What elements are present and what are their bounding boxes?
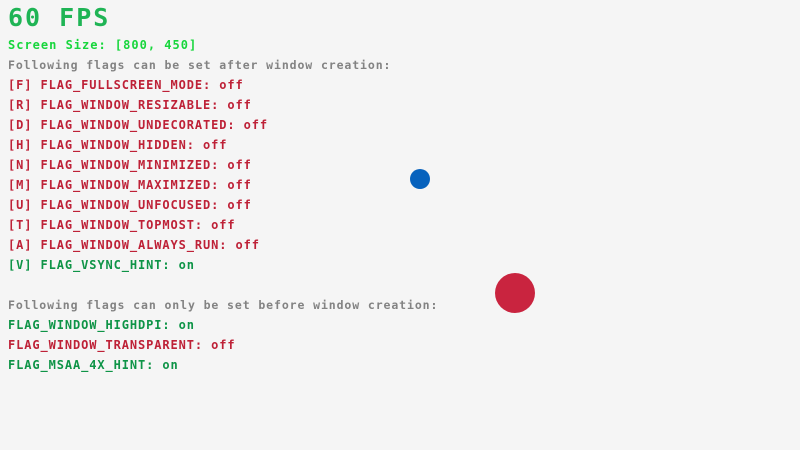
flag-state-value: off (211, 338, 235, 352)
red-ball-shape (495, 273, 535, 313)
flag-row[interactable]: FLAG_WINDOW_TRANSPARENT: off (8, 338, 236, 352)
flag-state-value: off (227, 158, 251, 172)
flag-row[interactable]: FLAG_WINDOW_HIGHDPI: on (8, 318, 195, 332)
flag-name: FLAG_MSAA_4X_HINT: (8, 358, 162, 372)
flag-shortcut-key: [N] (8, 158, 41, 172)
flag-shortcut-key: [R] (8, 98, 41, 112)
flag-name: FLAG_WINDOW_ALWAYS_RUN: (41, 238, 236, 252)
flag-state-value: off (227, 98, 251, 112)
flag-shortcut-key: [H] (8, 138, 41, 152)
flag-name: FLAG_WINDOW_TRANSPARENT: (8, 338, 211, 352)
flag-name: FLAG_WINDOW_HIGHDPI: (8, 318, 179, 332)
flag-state-value: on (162, 358, 178, 372)
flag-shortcut-key: [M] (8, 178, 41, 192)
flag-row[interactable]: [U] FLAG_WINDOW_UNFOCUSED: off (8, 198, 252, 212)
flag-row[interactable]: [D] FLAG_WINDOW_UNDECORATED: off (8, 118, 268, 132)
flag-name: FLAG_WINDOW_UNFOCUSED: (41, 198, 228, 212)
flag-shortcut-key: [F] (8, 78, 41, 92)
flag-state-value: on (179, 258, 195, 272)
screen-size-readout: Screen Size: [800, 450] (8, 38, 197, 52)
flag-row[interactable]: [T] FLAG_WINDOW_TOPMOST: off (8, 218, 236, 232)
flag-shortcut-key: [T] (8, 218, 41, 232)
flag-state-value: off (244, 118, 268, 132)
flag-name: FLAG_WINDOW_MAXIMIZED: (41, 178, 228, 192)
flag-row[interactable]: [A] FLAG_WINDOW_ALWAYS_RUN: off (8, 238, 260, 252)
flag-shortcut-key: [A] (8, 238, 41, 252)
flag-row[interactable]: [F] FLAG_FULLSCREEN_MODE: off (8, 78, 244, 92)
flag-row[interactable]: [V] FLAG_VSYNC_HINT: on (8, 258, 195, 272)
flag-state-value: off (211, 218, 235, 232)
flag-row[interactable]: [H] FLAG_WINDOW_HIDDEN: off (8, 138, 227, 152)
flag-row[interactable]: [R] FLAG_WINDOW_RESIZABLE: off (8, 98, 252, 112)
flag-state-value: off (236, 238, 260, 252)
flag-state-value: off (227, 178, 251, 192)
flag-name: FLAG_VSYNC_HINT: (41, 258, 179, 272)
flag-row[interactable]: [M] FLAG_WINDOW_MAXIMIZED: off (8, 178, 252, 192)
flag-row[interactable]: FLAG_MSAA_4X_HINT: on (8, 358, 179, 372)
flag-state-value: on (179, 318, 195, 332)
flag-state-value: off (219, 78, 243, 92)
creation-flags-caption: Following flags can only be set before w… (8, 298, 438, 312)
fps-counter: 60 FPS (8, 5, 110, 30)
flag-name: FLAG_WINDOW_RESIZABLE: (41, 98, 228, 112)
flag-shortcut-key: [U] (8, 198, 41, 212)
blue-ball-shape (410, 169, 430, 189)
flag-shortcut-key: [D] (8, 118, 41, 132)
flag-name: FLAG_WINDOW_TOPMOST: (41, 218, 212, 232)
flag-name: FLAG_WINDOW_MINIMIZED: (41, 158, 228, 172)
flag-name: FLAG_WINDOW_UNDECORATED: (41, 118, 244, 132)
flag-name: FLAG_FULLSCREEN_MODE: (41, 78, 220, 92)
flag-name: FLAG_WINDOW_HIDDEN: (41, 138, 204, 152)
runtime-flags-caption: Following flags can be set after window … (8, 58, 391, 72)
flag-state-value: off (203, 138, 227, 152)
flag-state-value: off (227, 198, 251, 212)
flag-row[interactable]: [N] FLAG_WINDOW_MINIMIZED: off (8, 158, 252, 172)
flag-shortcut-key: [V] (8, 258, 41, 272)
app-canvas[interactable]: 60 FPS Screen Size: [800, 450] Following… (0, 0, 800, 450)
